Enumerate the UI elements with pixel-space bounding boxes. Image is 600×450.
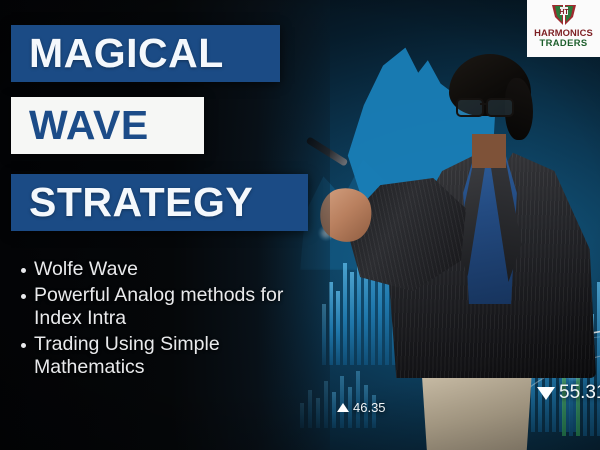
title-band-strategy: STRATEGY <box>11 174 308 231</box>
ticker-down: 55.31 <box>537 382 600 404</box>
ticker-up-value: 46.35 <box>353 400 386 415</box>
list-item: Powerful Analog methods for Index Intra <box>34 284 306 331</box>
title-line-1: MAGICAL <box>29 30 224 77</box>
triangle-up-icon <box>337 403 349 412</box>
feature-bullet-list: Wolfe Wave Powerful Analog methods for I… <box>20 258 306 382</box>
glasses-icon <box>456 98 518 114</box>
ticker-down-value: 55.31 <box>559 382 600 404</box>
title-line-3: STRATEGY <box>29 179 253 226</box>
logo-text-traders: TRADERS <box>539 38 587 48</box>
list-item: Wolfe Wave <box>34 258 306 282</box>
svg-text:HT: HT <box>559 9 569 16</box>
brand-logo: HT HARMONICS TRADERS <box>527 0 600 57</box>
list-item: Trading Using Simple Mathematics <box>34 333 306 380</box>
poster-canvas: MAGICAL WAVE STRATEGY Wolfe Wave Powerfu… <box>0 0 600 450</box>
ticker-up: 46.35 <box>337 400 386 415</box>
title-line-2: WAVE <box>29 102 149 149</box>
title-band-magical: MAGICAL <box>11 25 280 82</box>
title-band-wave: WAVE <box>11 97 204 154</box>
triangle-down-icon <box>537 387 555 400</box>
harmonic-butterfly-icon: HT <box>551 3 577 27</box>
